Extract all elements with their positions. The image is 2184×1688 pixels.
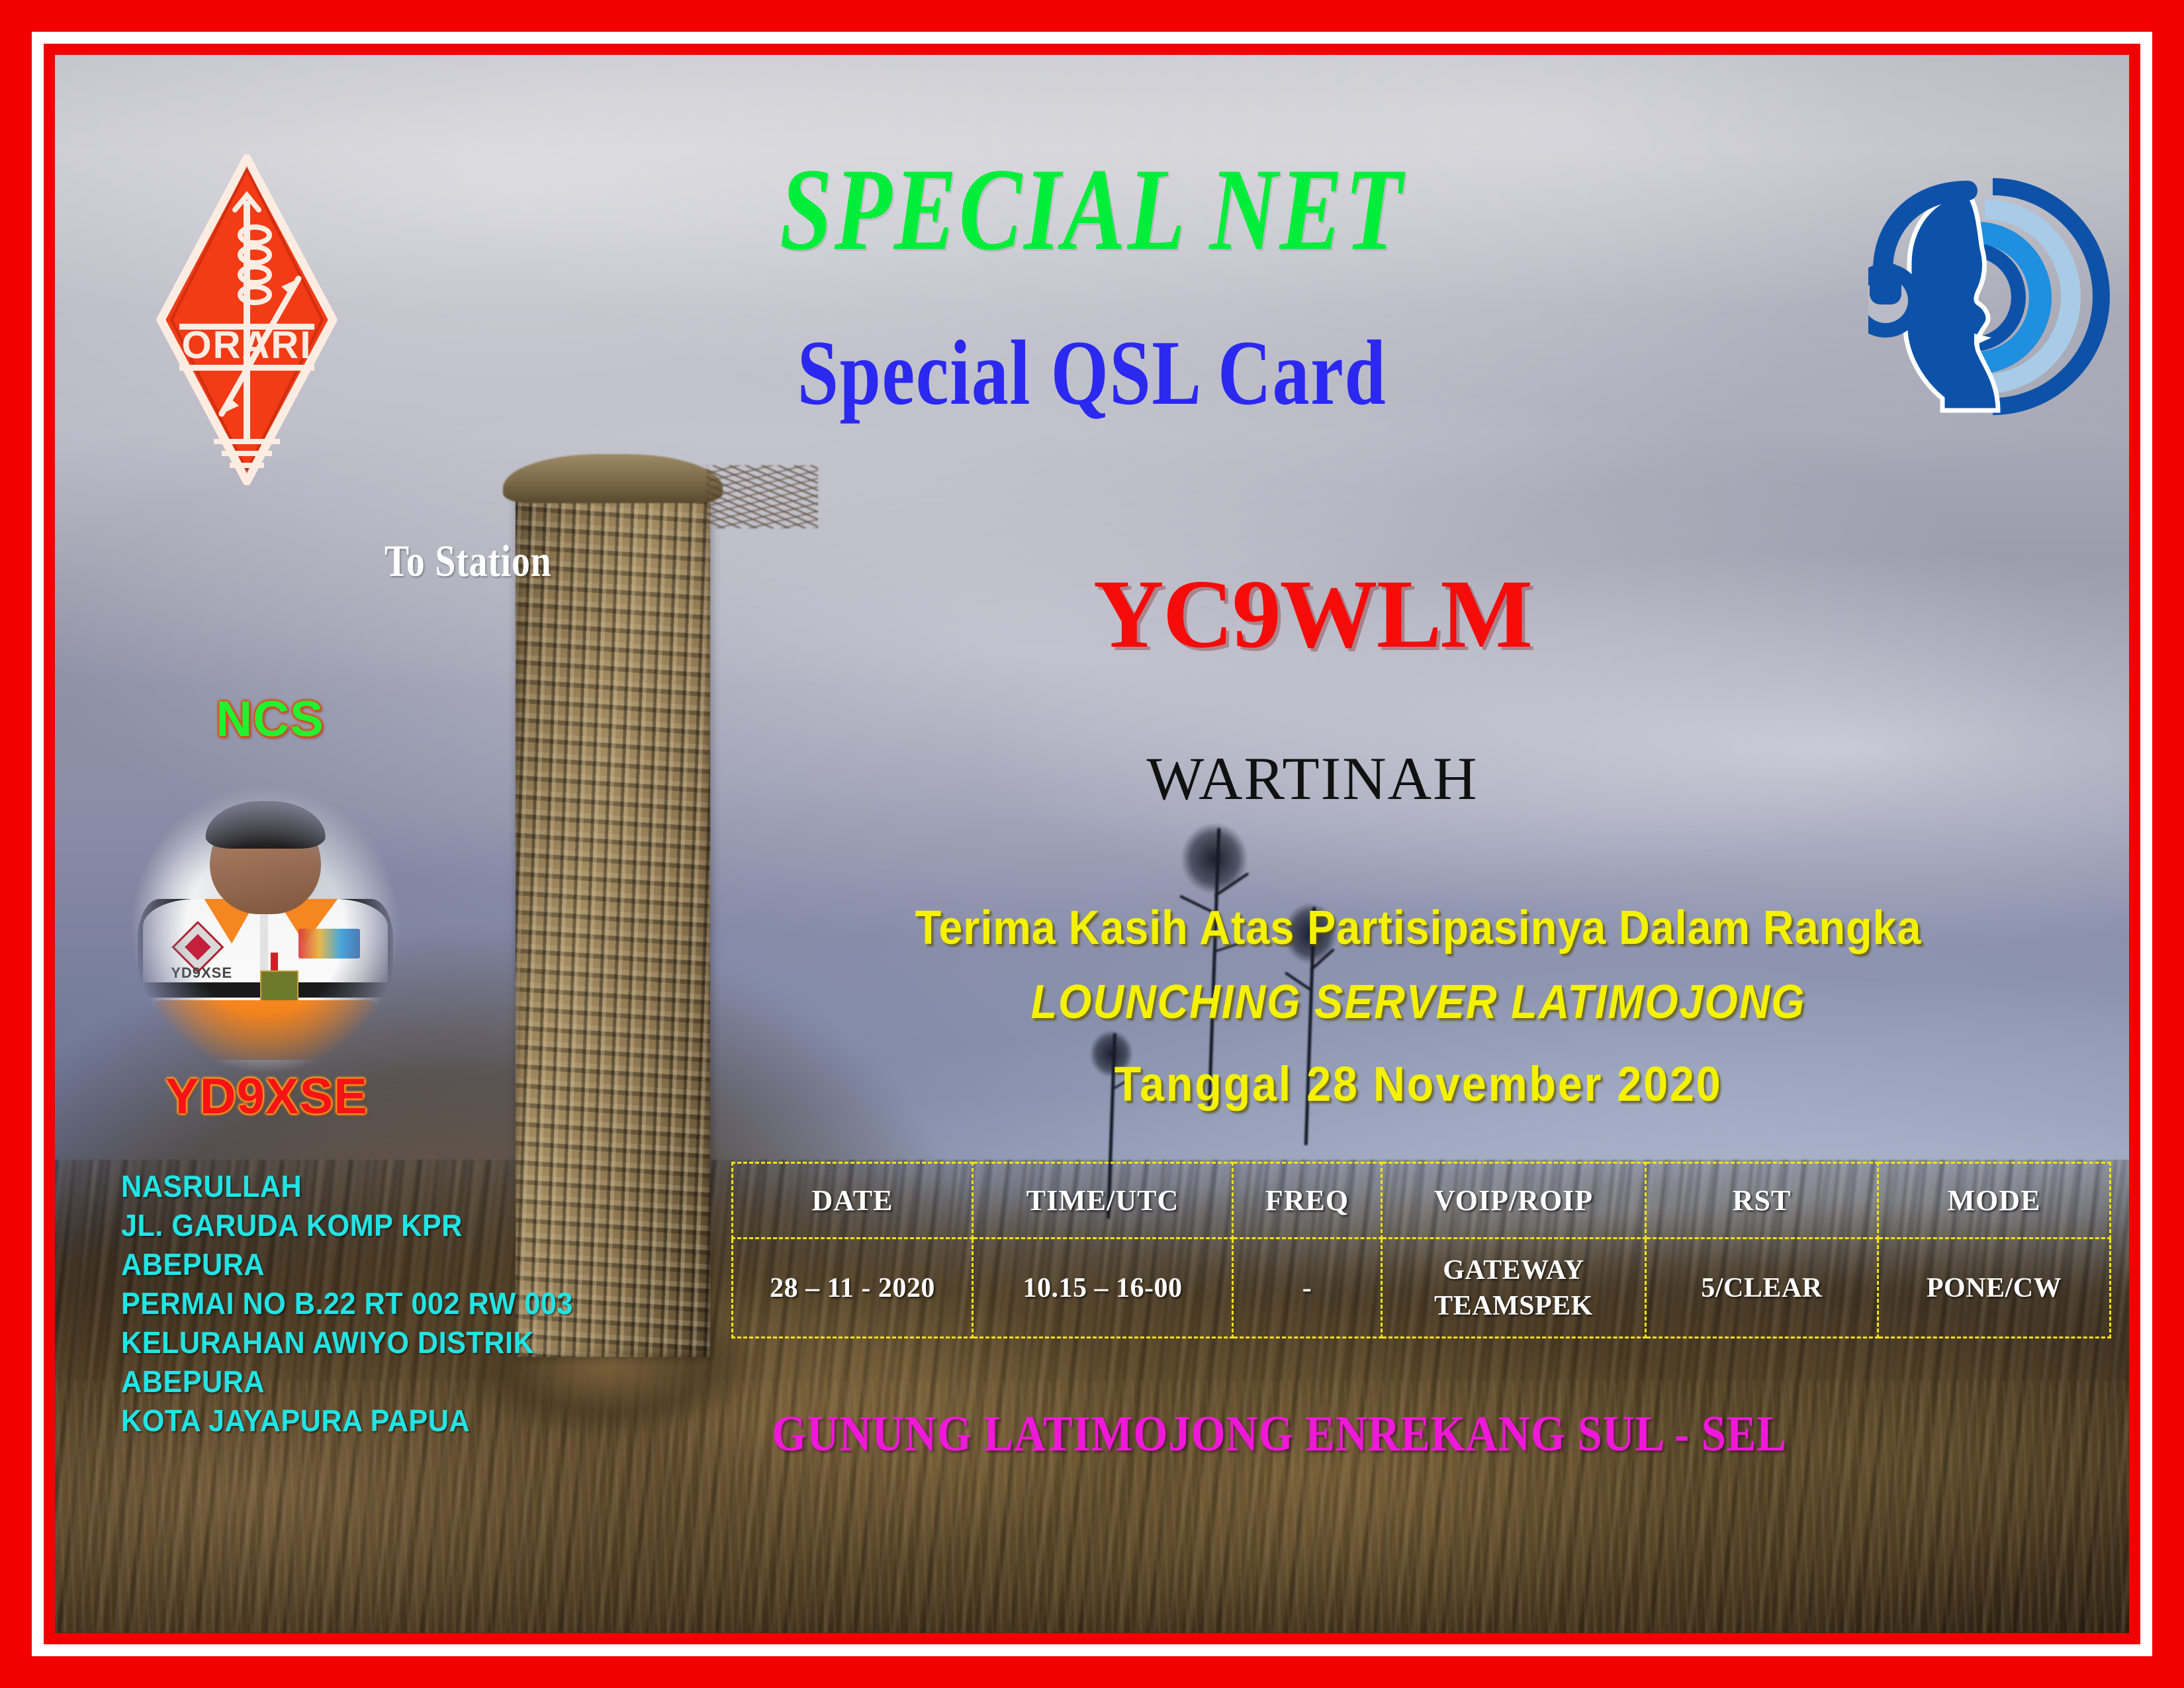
address-line: KOTA JAYAPURA PAPUA	[121, 1401, 594, 1440]
card-border-gap: ORARI	[32, 32, 2152, 1656]
qso-details-table: DATE TIME/UTC FREQ VOIP/ROIP RST MODE 28…	[731, 1162, 2111, 1338]
header-mode: MODE	[1878, 1163, 2111, 1239]
qsl-card: ORARI	[0, 0, 2184, 1688]
cell-freq: -	[1233, 1239, 1382, 1338]
return-address-block: NASRULLAH JL. GARUDA KOMP KPR ABEPURA PE…	[121, 1167, 624, 1440]
header-rst: RST	[1646, 1163, 1878, 1239]
cell-voip-roip-line1: GATEWAY	[1383, 1252, 1645, 1288]
footer-web-address: Address : amatir.latimojong.com	[1312, 1624, 1889, 1633]
photo-shirt-callsign: YD9XSE	[171, 964, 232, 982]
cairn-grass-wisp	[706, 465, 818, 528]
address-line: ABEPURA	[121, 1245, 594, 1284]
event-name: LOUNCHING SERVER LATIMOJONG	[835, 975, 2002, 1029]
operator-name: WARTINAH	[915, 743, 1709, 814]
card-photo-background: ORARI	[55, 55, 2129, 1633]
cell-voip-roip: GATEWAY TEAMSPEK	[1382, 1239, 1646, 1338]
thanks-line-1: Terima Kasih Atas Partisipasinya Dalam R…	[835, 901, 2002, 955]
location-line: GUNUNG LATIMOJONG ENREKANG SUL - SEL	[726, 1405, 1833, 1463]
page-subtitle: Special QSL Card	[262, 320, 1921, 426]
ncs-callsign: YD9XSE	[128, 1068, 406, 1125]
table-header-row: DATE TIME/UTC FREQ VOIP/ROIP RST MODE	[733, 1163, 2111, 1239]
to-station-label: To Station	[385, 535, 552, 587]
cell-date: 28 – 11 - 2020	[733, 1239, 973, 1338]
address-line: ABEPURA	[121, 1362, 594, 1401]
card-inner-border: ORARI	[44, 44, 2140, 1644]
header-voip-roip: VOIP/ROIP	[1382, 1163, 1646, 1239]
header-freq: FREQ	[1233, 1163, 1382, 1239]
address-line: NASRULLAH	[121, 1167, 594, 1206]
event-date: Tanggal 28 November 2020	[835, 1056, 2002, 1112]
header-time-utc: TIME/UTC	[973, 1163, 1233, 1239]
cell-time-utc: 10.15 – 16-00	[973, 1239, 1233, 1338]
page-title: SPECIAL NET	[262, 141, 1921, 277]
address-line: KELURAHAN AWIYO DISTRIK	[121, 1323, 594, 1362]
table-row: 28 – 11 - 2020 10.15 – 16-00 - GATEWAY T…	[733, 1239, 2111, 1338]
header-date: DATE	[733, 1163, 973, 1239]
address-line: PERMAI NO B.22 RT 002 RW 003	[121, 1284, 594, 1323]
ncs-operator-photo: YD9XSE	[126, 780, 404, 1078]
cell-voip-roip-line2: TEAMSPEK	[1383, 1288, 1645, 1324]
cell-rst: 5/CLEAR	[1646, 1239, 1878, 1338]
address-line: JL. GARUDA KOMP KPR	[121, 1206, 594, 1245]
cell-mode: PONE/CW	[1878, 1239, 2111, 1338]
ncs-label: NCS	[177, 690, 363, 748]
footer-slogan: "AMATIR RADIO ADALAH PROGRESIVE"	[128, 1624, 960, 1633]
station-callsign: YC9WLM	[915, 558, 1709, 671]
